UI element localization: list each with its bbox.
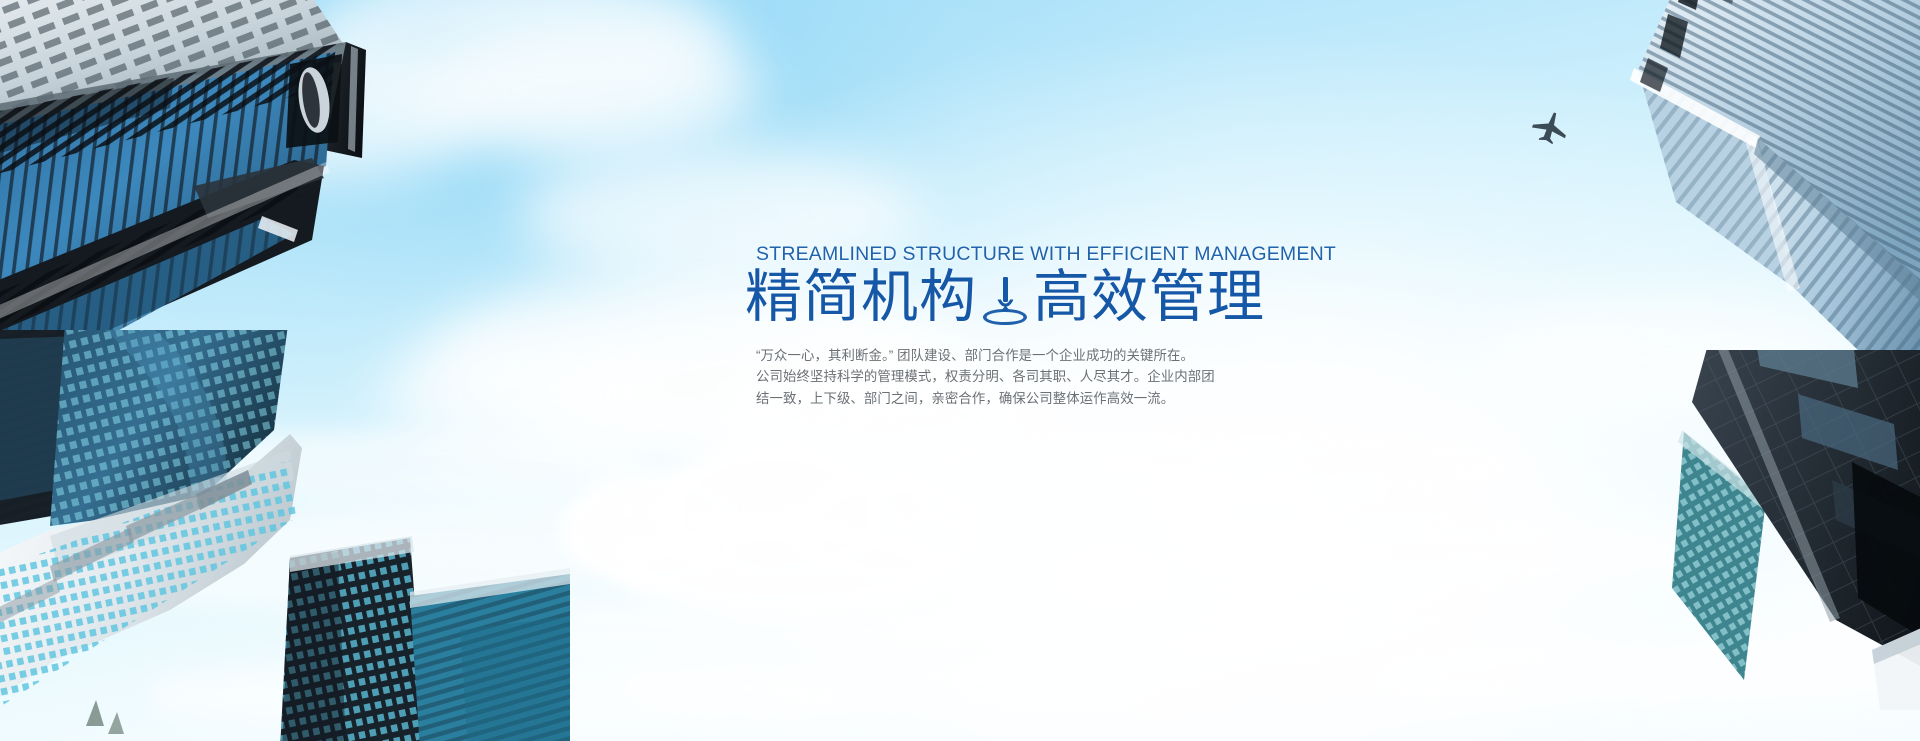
hero-eyebrow: STREAMLINED STRUCTURE WITH EFFICIENT MAN…: [756, 243, 1305, 266]
paragraph-line: 结一致，上下级、部门之间，亲密合作，确保公司整体运作高效一流。: [756, 388, 1305, 410]
hero-copy: STREAMLINED STRUCTURE WITH EFFICIENT MAN…: [745, 243, 1305, 410]
headline-right-phrase: 高效管理: [1033, 267, 1265, 329]
paragraph-line: “万众一心，其利断金。” 团队建设、部门合作是一个企业成功的关键所在。: [756, 345, 1305, 367]
arrow-down-ellipse-logo-icon: [979, 269, 1031, 327]
hero-paragraph: “万众一心，其利断金。” 团队建设、部门合作是一个企业成功的关键所在。 公司始终…: [756, 345, 1305, 410]
airplane-icon: [1527, 108, 1573, 144]
hero-banner: STREAMLINED STRUCTURE WITH EFFICIENT MAN…: [0, 0, 1920, 741]
paragraph-line: 公司始终坚持科学的管理模式，权责分明、各司其职、人尽其才。企业内部团: [756, 366, 1305, 388]
headline-left-phrase: 精简机构: [745, 267, 977, 329]
page-title: 精简机构 高效管理: [745, 267, 1305, 329]
